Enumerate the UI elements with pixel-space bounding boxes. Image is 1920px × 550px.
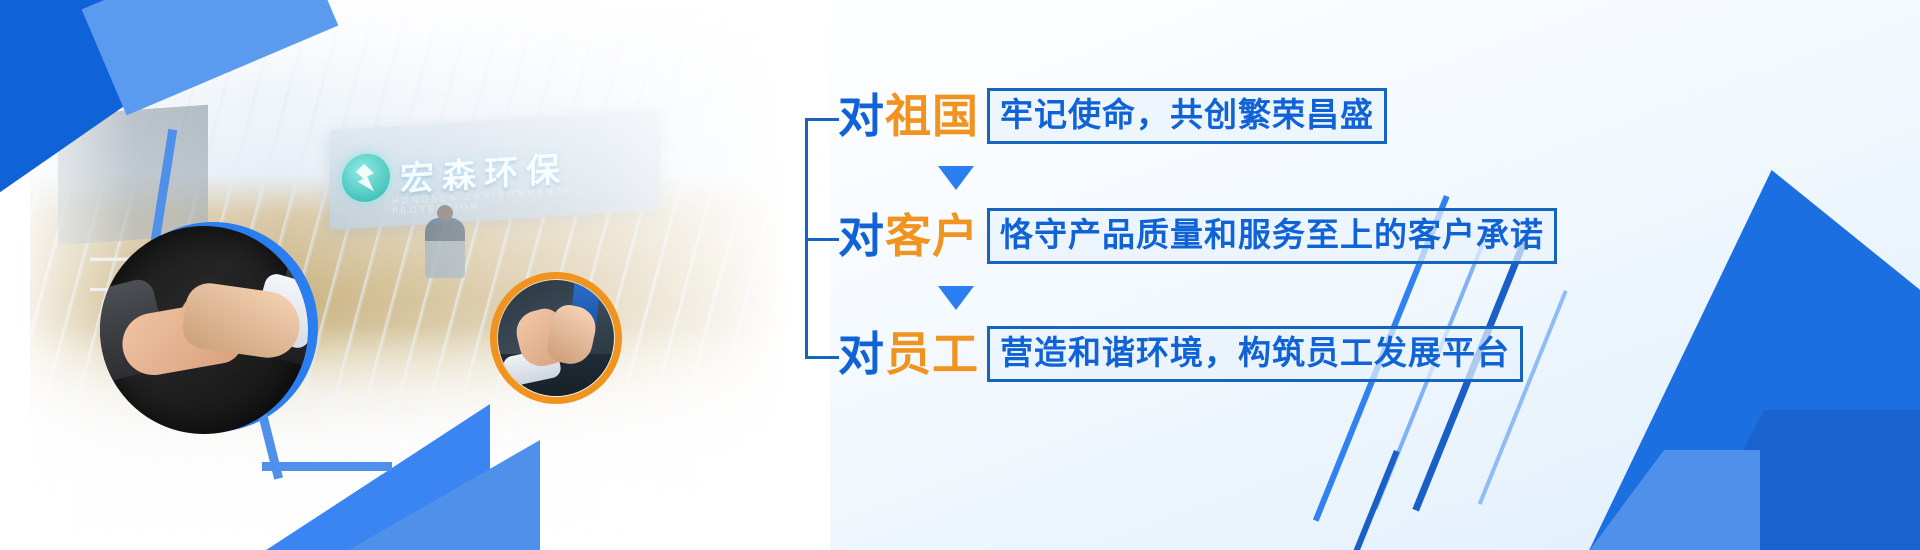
value-target-customer: 客户 bbox=[885, 213, 979, 259]
value-description-employee: 营造和谐环境，构筑员工发展平台 bbox=[987, 326, 1523, 382]
value-description-country: 牢记使命，共创繁荣昌盛 bbox=[987, 88, 1387, 144]
bracket-tick-row-1 bbox=[805, 118, 839, 121]
bracket-tick-row-3 bbox=[805, 356, 839, 359]
value-row-country: 对祖国 牢记使命，共创繁荣昌盛 bbox=[838, 88, 1387, 144]
value-target-country: 祖国 bbox=[885, 93, 979, 139]
value-heading-customer: 对客户 bbox=[838, 213, 979, 259]
arrow-down-icon-2 bbox=[938, 286, 974, 310]
corporate-values-banner: 宏森环保 HONGSEN ENVIRONMENTAL PROTECTION bbox=[0, 0, 1920, 550]
value-row-customer: 对客户 恪守产品质量和服务至上的客户承诺 bbox=[838, 208, 1557, 264]
value-prefix-employee: 对 bbox=[838, 331, 885, 377]
bracket-tick-row-2 bbox=[805, 238, 839, 241]
arrow-down-icon-1 bbox=[938, 166, 974, 190]
value-prefix-customer: 对 bbox=[838, 213, 885, 259]
value-prefix-country: 对 bbox=[838, 93, 885, 139]
value-description-customer: 恪守产品质量和服务至上的客户承诺 bbox=[987, 208, 1557, 264]
value-heading-employee: 对员工 bbox=[838, 331, 979, 377]
value-heading-country: 对祖国 bbox=[838, 93, 979, 139]
value-row-employee: 对员工 营造和谐环境，构筑员工发展平台 bbox=[838, 326, 1523, 382]
values-content: 对祖国 牢记使命，共创繁荣昌盛 对客户 恪守产品质量和服务至上的客户承诺 对员工… bbox=[0, 0, 1920, 550]
value-target-employee: 员工 bbox=[885, 331, 979, 377]
